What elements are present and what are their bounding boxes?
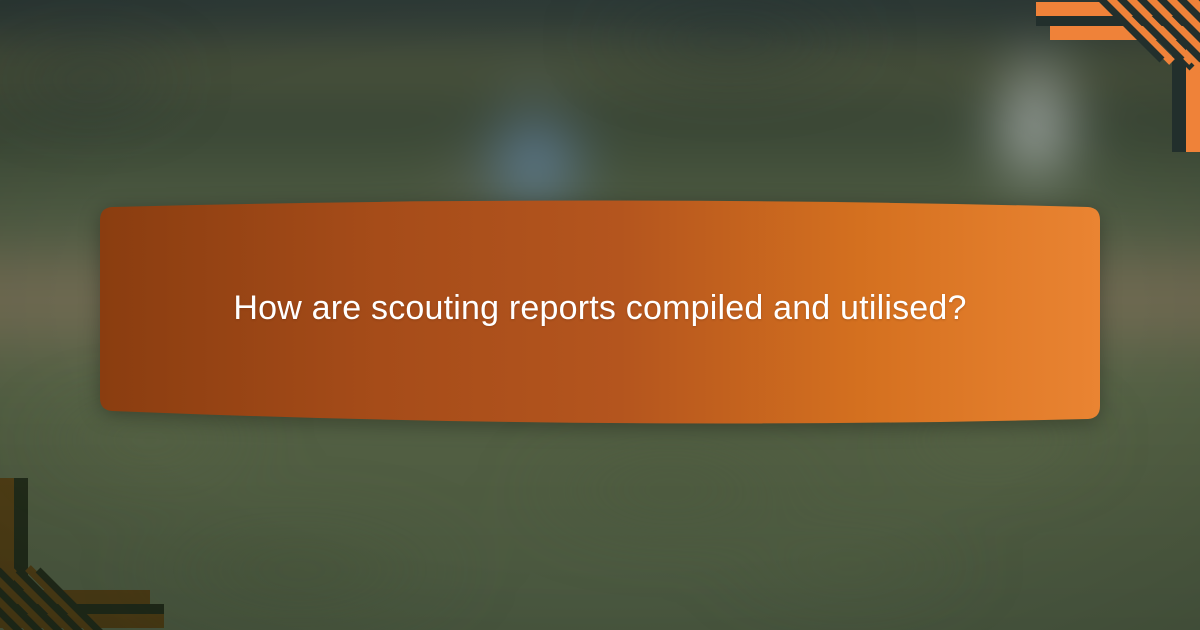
question-card: How are scouting reports compiled and ut… — [100, 198, 1100, 426]
social-card-canvas: How are scouting reports compiled and ut… — [0, 0, 1200, 630]
question-text: How are scouting reports compiled and ut… — [160, 198, 1040, 418]
